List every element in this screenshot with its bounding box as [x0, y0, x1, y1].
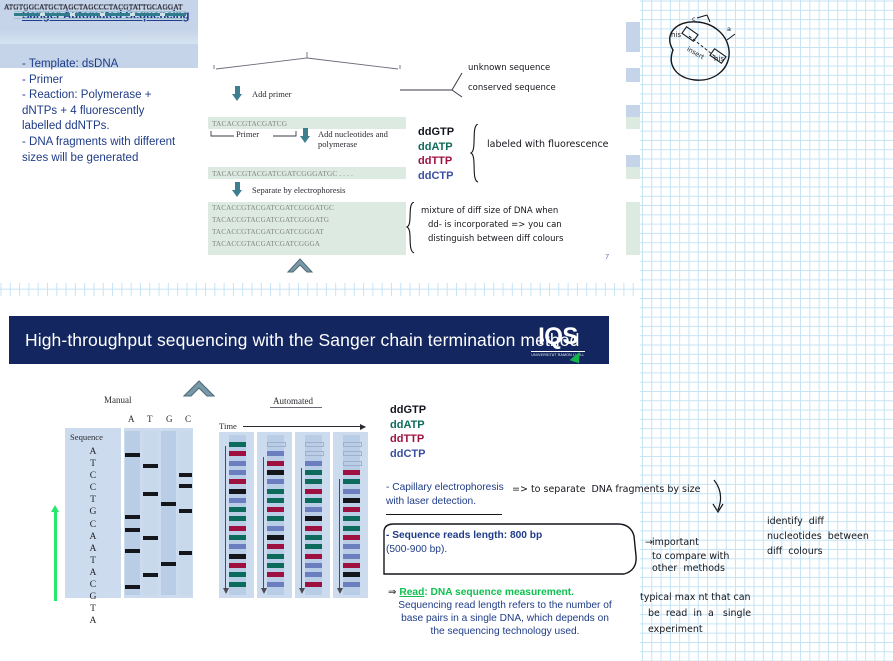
capillary-band — [343, 498, 360, 503]
seq-letter: A — [83, 531, 103, 543]
capillary-band — [343, 516, 360, 521]
gel-band — [125, 453, 140, 457]
capillary-band — [343, 507, 360, 512]
capillary-band — [229, 544, 246, 549]
gel-band — [143, 464, 158, 468]
edge-bar-3 — [626, 105, 640, 117]
capillary-lane-1 — [229, 435, 246, 595]
underline-capillary — [386, 514, 502, 515]
annotation-important-line1: →important — [645, 537, 699, 548]
capillary-band — [229, 461, 246, 466]
manual-lane-c — [179, 431, 192, 595]
annotation-mixture-line3: distinguish between diff colours — [428, 234, 563, 245]
step-separate-label: Separate by electrophoresis — [252, 186, 345, 196]
annotation-typical-line2: be read in a single — [648, 608, 751, 619]
handwritten-plasmid-sketch — [655, 10, 765, 90]
capillary-band — [305, 572, 322, 577]
bullet-primer: - Primer — [22, 73, 182, 89]
capillary-band — [305, 582, 322, 587]
sequence-label: Sequence — [70, 432, 103, 442]
seq-letter: T — [83, 494, 103, 506]
plasmid-label-his-right: his — [714, 54, 724, 65]
ddgtp-label: ddGTP — [418, 125, 454, 140]
important-text-1: important — [652, 537, 699, 548]
capillary-band — [343, 479, 360, 484]
gel-band — [161, 502, 176, 506]
step-add-nucleotides-label: Add nucleotides and polymerase — [318, 130, 398, 149]
step-add-primer-label: Add primer — [252, 90, 291, 100]
ddctp-label-2: ddCTP — [390, 447, 426, 462]
capillary-band — [267, 470, 284, 475]
automated-label: Automated — [273, 396, 313, 406]
capillary-band — [343, 582, 360, 587]
seq-letter: A — [83, 543, 103, 555]
chevron-up-icon-2 — [182, 376, 216, 405]
curved-arrow-identify — [702, 478, 738, 518]
capillary-band — [343, 489, 360, 494]
gel-band — [125, 515, 140, 519]
lane-label-c: C — [185, 414, 191, 424]
seq-letter: G — [83, 506, 103, 518]
capillary-band — [267, 507, 284, 512]
seq-letter: C — [83, 519, 103, 531]
seq-letter: C — [83, 470, 103, 482]
logo-green-check-icon — [570, 350, 583, 364]
capillary-band — [305, 489, 322, 494]
capillary-band — [229, 507, 246, 512]
brace-ddntps — [469, 124, 481, 184]
capillary-band — [305, 498, 322, 503]
capillary-band — [305, 554, 322, 559]
annotation-identify-line3: diff colours — [767, 546, 823, 557]
edge-bar-5 — [626, 155, 640, 167]
capillary-band — [267, 535, 284, 540]
slide-bottom-title: High-throughput sequencing with the Sang… — [25, 330, 579, 351]
read-definition-block: ⇒ Read: DNA sequence measurement. Sequen… — [382, 586, 628, 638]
capillary-band — [343, 461, 362, 466]
extended-new-strand: TACACCGTACGATCGATCGGGATGC . . . . — [208, 167, 406, 179]
seq-letter: T — [83, 458, 103, 470]
capillary-band — [229, 442, 246, 447]
brace-fragments — [405, 202, 417, 254]
ddntp-list-bottom: ddGTP ddATP ddTTP ddCTP — [390, 403, 426, 461]
slide-number-top: 7 — [605, 252, 609, 261]
extended-sequence: TACACCGTACGATCGATCGGGATGC . . . . — [212, 169, 353, 178]
slide-top-bullet-list: - Template: dsDNA - Primer - Reaction: P… — [22, 57, 182, 166]
capillary-band — [267, 572, 284, 577]
edge-bar-6 — [626, 167, 640, 179]
read-body-line2: base pairs in a single DNA, which depend… — [382, 612, 628, 625]
fragments-panel: TACACCGTACGATCGATCGGGATGC TACACCGTACGATC… — [208, 202, 406, 255]
handwritten-box-reads — [382, 520, 642, 576]
primer-template-strand: ATGTGGCATGCTAGCTAGCCCTACGTATTGCAGGAT — [0, 44, 198, 56]
template-sequence-panel: ATGTGGCATGCTAGCTAGCCCTACGTATTGCAGGAT — [0, 30, 198, 44]
read-body-line1: Sequencing read length refers to the num… — [382, 599, 628, 612]
capillary-time-arrow-3 — [301, 468, 302, 589]
annotation-identify-line2: nucleotides between — [767, 531, 869, 542]
primer-caption: Primer — [236, 130, 259, 140]
capillary-time-arrow-1 — [225, 446, 226, 589]
capillary-band — [229, 563, 246, 568]
capillary-band — [343, 554, 360, 559]
read-body-line3: the sequencing technology used. — [382, 625, 628, 638]
ddctp-label: ddCTP — [418, 169, 454, 184]
primer-sequence: TACACCGTACGATCG — [212, 119, 287, 128]
gel-band — [179, 509, 192, 513]
bullet-reaction: - Reaction: Polymerase + dNTPs + 4 fluor… — [22, 88, 182, 135]
read-keyword: Read — [399, 587, 424, 598]
capillary-band — [305, 526, 322, 531]
capillary-band — [229, 451, 246, 456]
capillary-band — [229, 526, 246, 531]
edge-bar-1 — [626, 22, 640, 52]
capillary-band — [229, 479, 246, 484]
time-label: Time — [219, 421, 237, 431]
gel-band — [125, 549, 140, 553]
green-direction-arrow-icon — [54, 511, 57, 601]
gel-band — [125, 528, 140, 532]
converging-lines — [208, 52, 406, 70]
ddttp-label: ddTTP — [418, 154, 454, 169]
capillary-band — [229, 572, 246, 577]
capillary-band — [267, 451, 284, 456]
sequence-letters: A T C C T G C A A T A C G T A — [83, 446, 103, 627]
seq-letter: A — [83, 615, 103, 627]
capillary-band — [229, 535, 246, 540]
capillary-band — [267, 526, 284, 531]
capillary-band — [305, 535, 322, 540]
capillary-band — [229, 516, 246, 521]
capillary-band — [229, 498, 246, 503]
annotation-conserved-sequence: conserved sequence — [468, 83, 556, 94]
seq-letter: A — [83, 567, 103, 579]
capillary-band — [305, 479, 322, 484]
slide-high-throughput-sequencing: High-throughput sequencing with the Sang… — [0, 296, 640, 661]
ddgtp-label-2: ddGTP — [390, 403, 426, 418]
fragment-4: TACACCGTACGATCGATCGGGA — [212, 240, 320, 248]
seq-letter: A — [83, 446, 103, 458]
capillary-band — [305, 442, 324, 447]
annotation-typical-line3: experiment — [648, 624, 703, 635]
chevron-up-icon — [286, 255, 314, 280]
capillary-band — [267, 544, 284, 549]
capillary-band — [267, 479, 284, 484]
annotation-important-line2: to compare with — [652, 551, 729, 562]
capillary-band — [343, 451, 362, 456]
capillary-band — [305, 507, 322, 512]
automated-underline — [270, 407, 322, 408]
capillary-band — [343, 442, 362, 447]
annotation-identify-line1: identify diff — [767, 516, 824, 527]
capillary-lane-2 — [267, 435, 284, 595]
capillary-time-arrow-2 — [263, 457, 264, 589]
bullet-fragments: - DNA fragments with different sizes wil… — [22, 135, 182, 166]
annotation-unknown-sequence: unknown sequence — [468, 63, 550, 74]
capillary-band — [343, 526, 360, 531]
fragment-3: TACACCGTACGATCGATCGGGAT — [212, 228, 324, 236]
manual-lane-g — [161, 431, 176, 595]
bullet-capillary-line2: with laser detection. — [386, 495, 566, 509]
gel-band — [161, 562, 176, 566]
lane-label-t: T — [147, 414, 153, 424]
lane-label-g: G — [166, 414, 173, 424]
capillary-band — [229, 554, 246, 559]
gel-band — [125, 585, 140, 589]
logo-text: IQS — [538, 325, 578, 349]
seq-letter: C — [83, 482, 103, 494]
capillary-lane-4 — [343, 435, 360, 595]
fragment-1: TACACCGTACGATCGATCGGGATGC — [212, 204, 334, 212]
capillary-time-arrow-4 — [339, 479, 340, 589]
plasmid-label-a: a — [727, 24, 731, 35]
edge-bar-2 — [626, 68, 640, 82]
seq-letter: T — [83, 555, 103, 567]
capillary-band — [229, 489, 246, 494]
capillary-band — [267, 489, 284, 494]
annotation-important-line3: other methods — [652, 563, 725, 574]
annotation-labeled-fluorescence: labeled with fluorescence — [487, 139, 609, 150]
capillary-band — [305, 563, 322, 568]
bullet-template: - Template: dsDNA — [22, 57, 182, 73]
plasmid-label-his-top: his — [671, 30, 681, 41]
gel-band — [179, 484, 192, 488]
gel-band — [143, 573, 158, 577]
edge-bar-7 — [626, 202, 640, 255]
manual-label: Manual — [104, 395, 132, 405]
capillary-band — [267, 516, 284, 521]
capillary-band — [267, 554, 284, 559]
gel-band — [143, 492, 158, 496]
annotation-mixture-line2: dd- is incorporated => you can — [428, 220, 562, 231]
capillary-band — [305, 461, 322, 466]
manual-lane-t — [143, 431, 158, 595]
seq-letter: C — [83, 579, 103, 591]
gel-band — [179, 551, 192, 555]
capillary-band — [267, 442, 286, 447]
capillary-band — [267, 461, 284, 466]
capillary-band — [343, 544, 360, 549]
iqs-logo: IQS UNIVERSITAT RAMON LLULL — [521, 322, 595, 360]
capillary-band — [305, 516, 322, 521]
capillary-band — [343, 535, 360, 540]
annotation-mixture-line1: mixture of diff size of DNA when — [421, 206, 558, 217]
capillary-lane-3 — [305, 435, 322, 595]
capillary-band — [229, 470, 246, 475]
capillary-band — [267, 582, 284, 587]
fragment-2: TACACCGTACGATCGATCGGGATG — [212, 216, 329, 224]
capillary-band — [343, 572, 360, 577]
capillary-band — [267, 498, 284, 503]
read-keyword-rest: : DNA sequence measurement. — [424, 587, 574, 598]
capillary-band — [343, 563, 360, 568]
seq-letter: G — [83, 591, 103, 603]
extended-template-sequence: ATGTGGCATGCTAGCTAGCCCTACGTATTGCAGGAT — [4, 2, 183, 11]
ddttp-label-2: ddTTP — [390, 432, 426, 447]
read-arrow-icon: ⇒ — [388, 587, 397, 598]
ddatp-label: ddATP — [418, 140, 454, 155]
gel-band — [143, 536, 158, 540]
gel-band — [179, 473, 192, 477]
capillary-band — [305, 470, 322, 475]
seq-letter: T — [83, 603, 103, 615]
annotation-separate-fragments: => to separate DNA fragments by size — [512, 484, 700, 495]
lane-label-a: A — [128, 414, 135, 424]
capillary-band — [229, 582, 246, 587]
ddatp-label-2: ddATP — [390, 418, 426, 433]
annotation-typical-line1: typical max nt that can — [640, 592, 751, 603]
capillary-band — [267, 563, 284, 568]
plasmid-label-c: c — [692, 14, 696, 25]
slide-bottom-header: High-throughput sequencing with the Sang… — [9, 316, 609, 364]
capillary-band — [343, 470, 360, 475]
capillary-band — [305, 544, 322, 549]
ddntp-list-top: ddGTP ddATP ddTTP ddCTP — [418, 125, 454, 183]
edge-bar-4 — [626, 117, 640, 129]
time-arrow-icon — [243, 426, 365, 427]
capillary-band — [305, 451, 324, 456]
